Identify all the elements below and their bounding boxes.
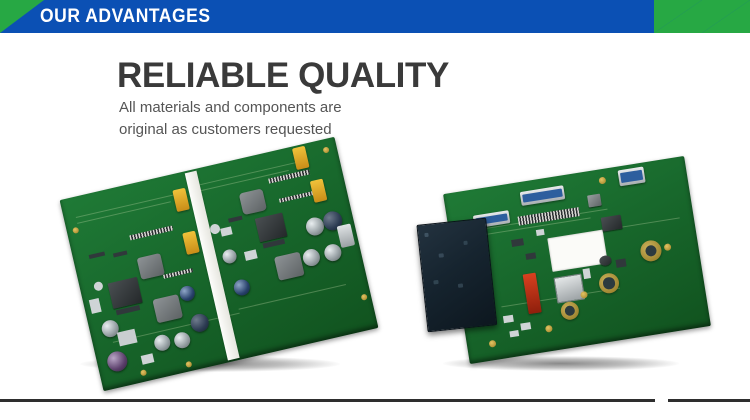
advantages-banner: OUR ADVANTAGES RELIABLE QUALITY All mate…: [0, 0, 750, 420]
pcb-board-right: [443, 156, 711, 364]
pcb-board-left: [60, 137, 379, 391]
page-title: RELIABLE QUALITY: [117, 56, 449, 96]
footer-rule-left: [0, 399, 655, 402]
subtitle-line-2: original as customers requested: [119, 121, 332, 138]
pcb-photo-right: [425, 160, 715, 390]
footer-rule-right: [668, 399, 750, 402]
section-header-bar: OUR ADVANTAGES: [0, 0, 750, 33]
pcb-photo-left: [60, 160, 380, 390]
section-title: OUR ADVANTAGES: [40, 0, 211, 33]
subtitle-line-1: All materials and components are: [119, 99, 342, 116]
triangle-accent-icon: [0, 0, 44, 33]
lcd-module: [416, 218, 497, 333]
diagonal-stripes-icon: [654, 0, 750, 33]
